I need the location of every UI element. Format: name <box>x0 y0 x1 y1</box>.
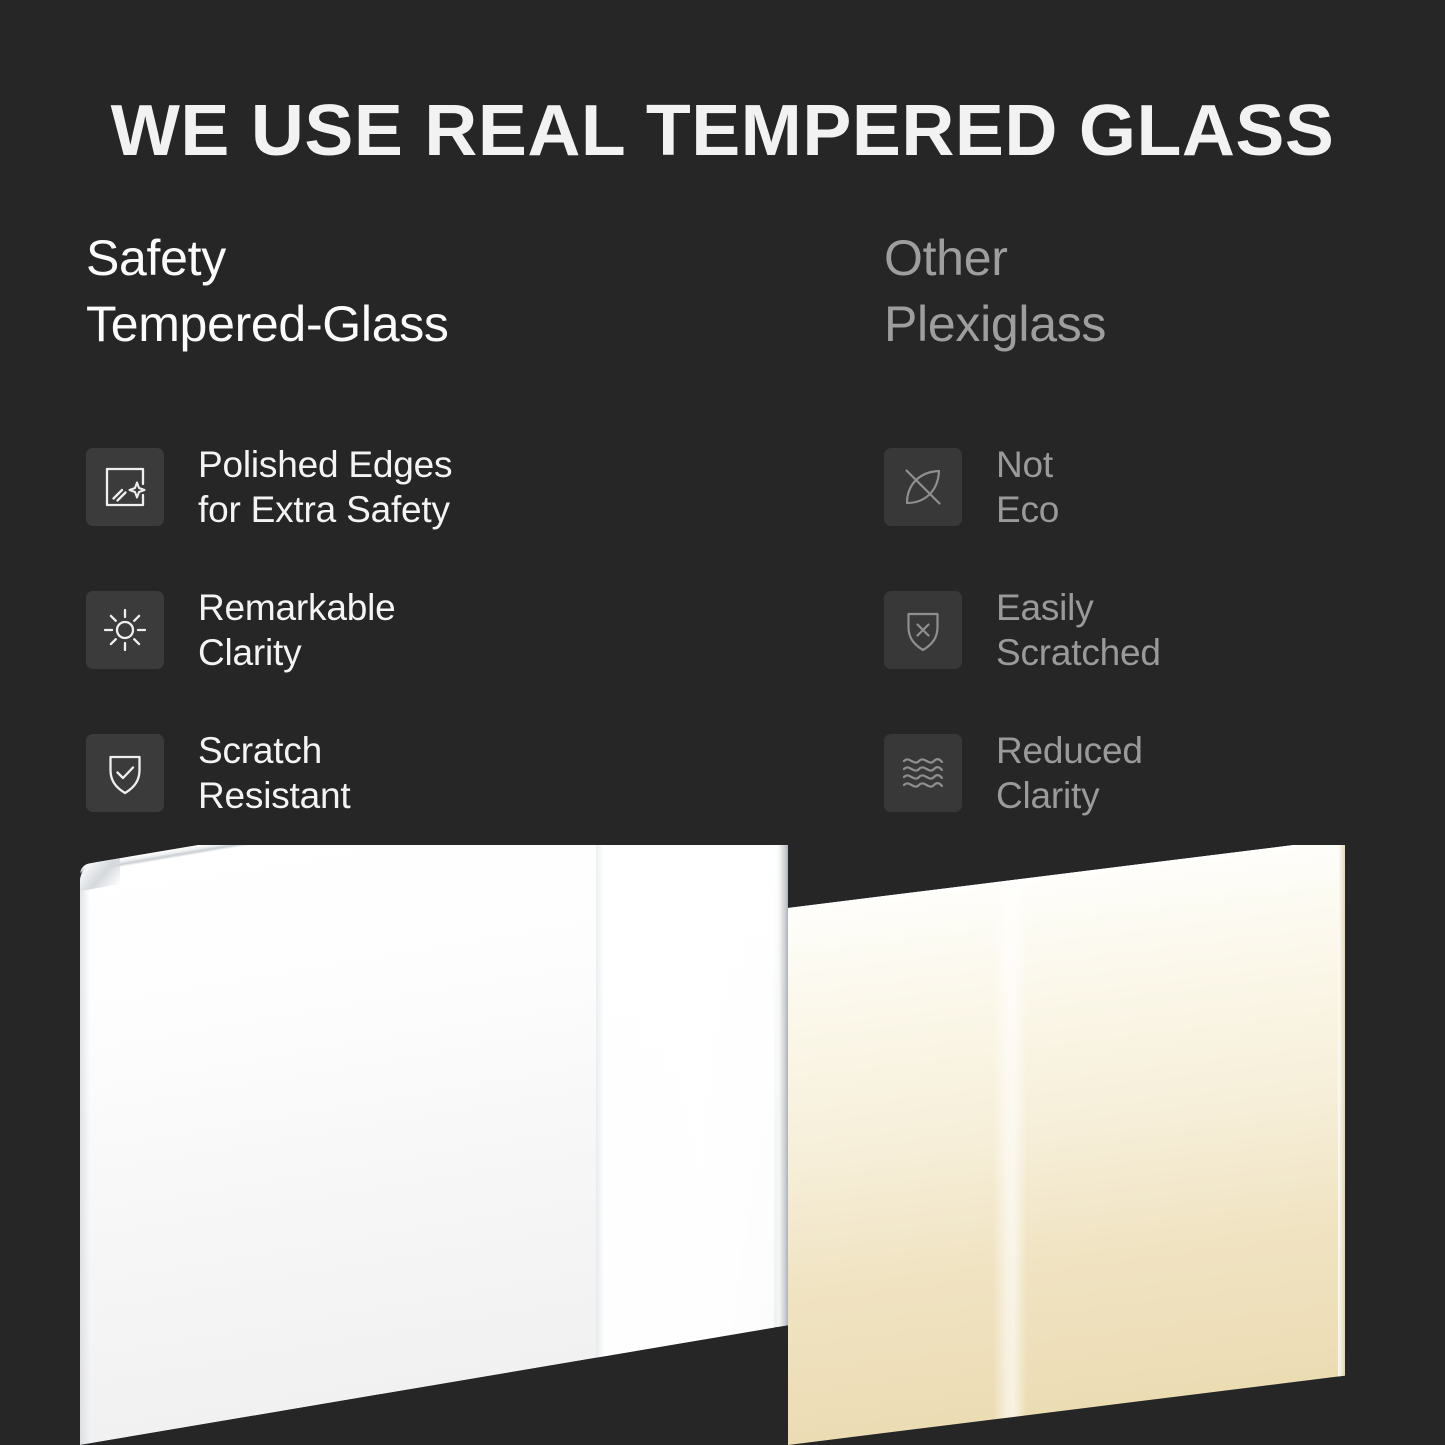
wavy-lines-icon <box>884 734 962 812</box>
feature-remarkable-clarity: Remarkable Clarity <box>86 580 786 680</box>
column-title-tempered-glass: Safety Tempered-Glass <box>86 225 786 357</box>
glass-right-edge <box>776 845 788 1327</box>
glass-reflection-band <box>596 845 774 1358</box>
plexi-top-highlight <box>788 845 1345 912</box>
feature-label: Scratch Resistant <box>198 728 350 818</box>
feature-scratch-resistant: Scratch Resistant <box>86 723 786 823</box>
sun-clarity-icon <box>86 591 164 669</box>
shield-check-icon <box>86 734 164 812</box>
comparison-columns: Safety Tempered-Glass Polished Edges for… <box>0 225 1445 845</box>
page-title: WE USE REAL TEMPERED GLASS <box>0 90 1445 172</box>
plexiglass-panel-cream <box>788 845 1345 1445</box>
feature-label: Remarkable Clarity <box>198 585 395 675</box>
polished-glass-sparkle-icon <box>86 448 164 526</box>
column-title-plexiglass: Other Plexiglass <box>884 225 1404 357</box>
feature-polished-edges: Polished Edges for Extra Safety <box>86 437 786 537</box>
shield-x-icon <box>884 591 962 669</box>
product-photo <box>0 845 1445 1445</box>
tempered-glass-panel-white <box>80 845 788 1445</box>
plexi-reflection-band <box>993 878 1027 1419</box>
feature-easily-scratched: Easily Scratched <box>884 580 1404 680</box>
comparison-infographic: WE USE REAL TEMPERED GLASS Safety Temper… <box>0 0 1445 1445</box>
feature-label: Not Eco <box>996 442 1059 532</box>
feature-list-plexiglass: Not Eco Easily Scratched <box>884 437 1404 823</box>
feature-not-eco: Not Eco <box>884 437 1404 537</box>
column-tempered-glass: Safety Tempered-Glass Polished Edges for… <box>86 225 786 357</box>
column-plexiglass: Other Plexiglass Not Eco <box>884 225 1404 357</box>
feature-reduced-clarity: Reduced Clarity <box>884 723 1404 823</box>
feature-label: Reduced Clarity <box>996 728 1143 818</box>
plexi-right-edge <box>1338 845 1345 1376</box>
feature-label: Easily Scratched <box>996 585 1161 675</box>
leaf-crossed-out-icon <box>884 448 962 526</box>
feature-list-tempered-glass: Polished Edges for Extra Safety Remarkab… <box>86 437 786 823</box>
feature-label: Polished Edges for Extra Safety <box>198 442 452 532</box>
